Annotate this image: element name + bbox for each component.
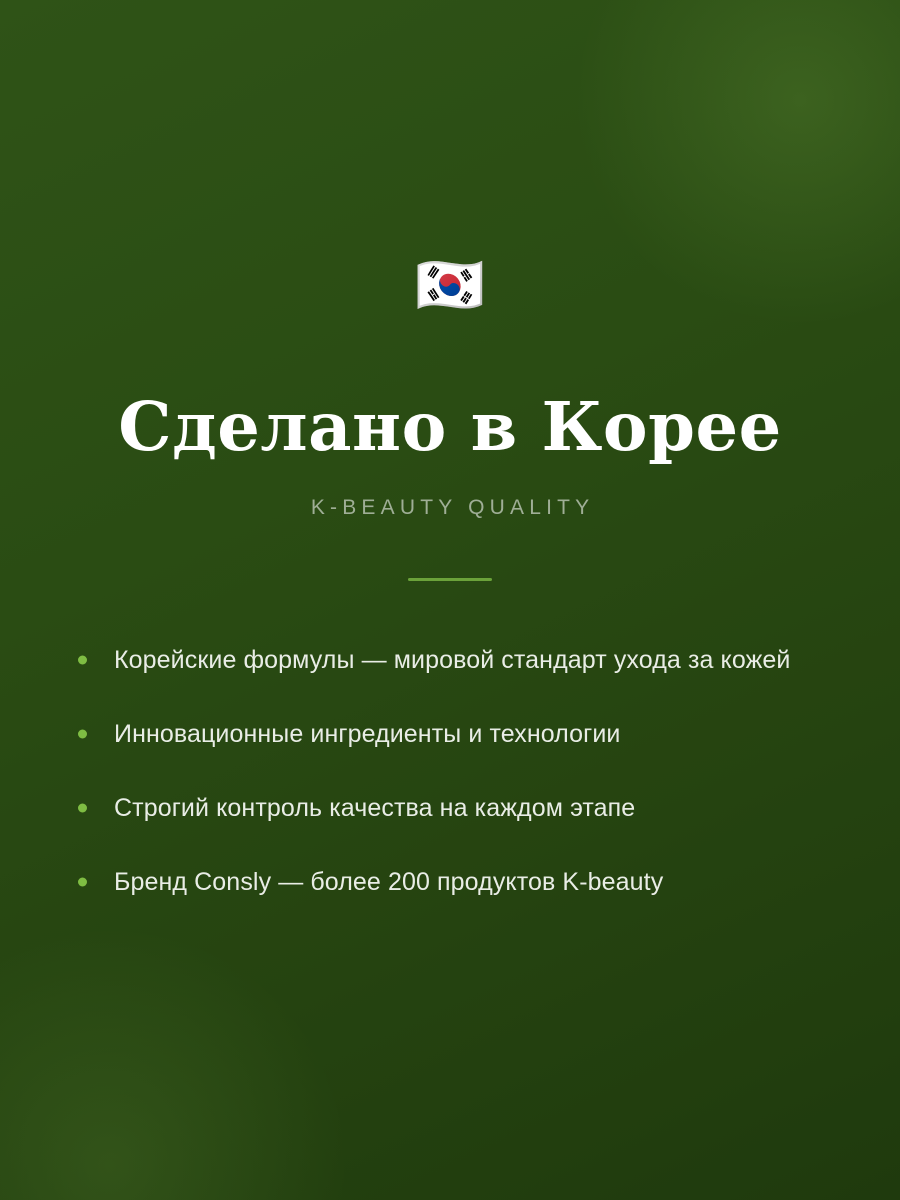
list-item: Строгий контроль качества на каждом этап… (0, 788, 900, 828)
flag-container: 🇰🇷 (0, 258, 900, 314)
bullet-dot-icon (78, 730, 87, 739)
list-item-label: Бренд Consly — более 200 продуктов K-bea… (114, 862, 663, 902)
page-subtitle: K-BEAUTY QUALITY (0, 494, 900, 522)
list-item-label: Строгий контроль качества на каждом этап… (114, 788, 635, 828)
bullet-dot-icon (78, 804, 87, 813)
feature-list: Корейские формулы — мировой стандарт ухо… (0, 640, 900, 902)
list-item: Инновационные ингредиенты и технологии (0, 714, 900, 754)
title-divider (408, 578, 492, 581)
bullet-dot-icon (78, 656, 87, 665)
list-item-label: Корейские формулы — мировой стандарт ухо… (114, 640, 791, 680)
list-item: Бренд Consly — более 200 продуктов K-bea… (0, 862, 900, 902)
list-item: Корейские формулы — мировой стандарт ухо… (0, 640, 900, 680)
list-item-label: Инновационные ингредиенты и технологии (114, 714, 621, 754)
bullet-dot-icon (78, 878, 87, 887)
page-title: Сделано в Корее (0, 386, 900, 468)
south-korea-flag-icon: 🇰🇷 (415, 258, 485, 314)
made-in-korea-slide: 🇰🇷 Сделано в Корее K-BEAUTY QUALITY Коре… (0, 0, 900, 1200)
